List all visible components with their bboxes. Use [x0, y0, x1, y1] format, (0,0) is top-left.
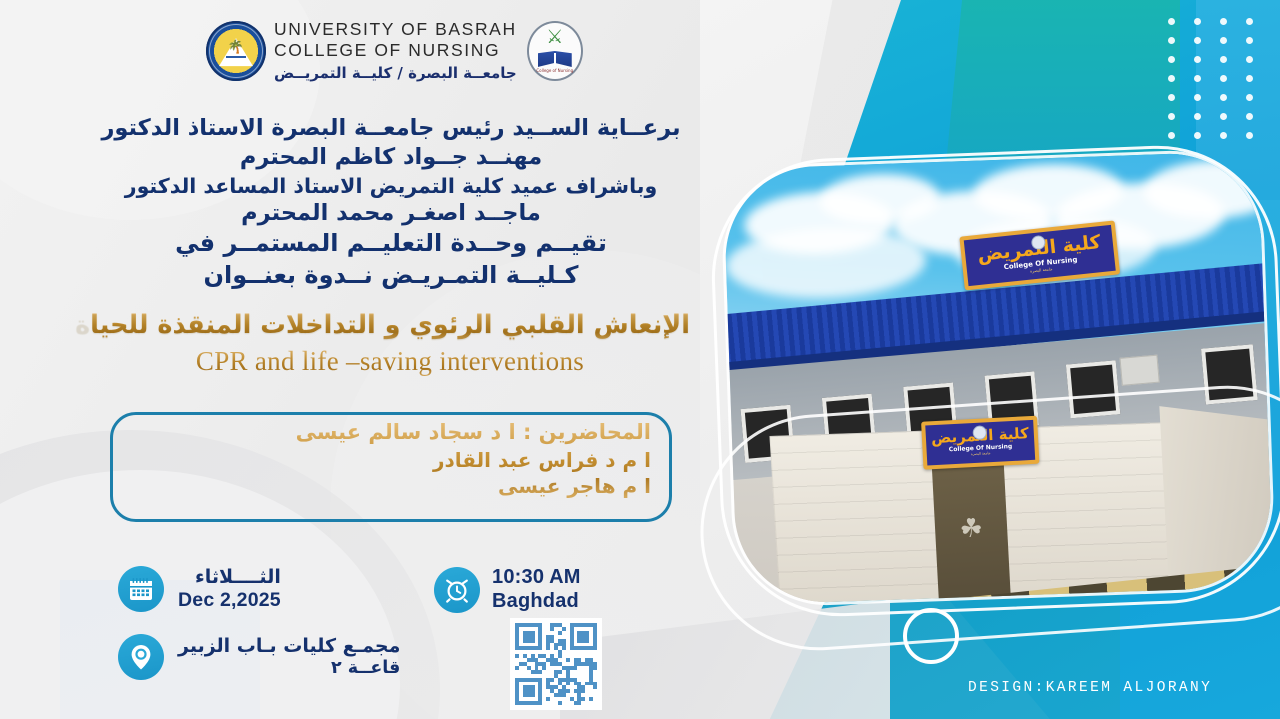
sign-lower-small: جامعة البصرة	[971, 452, 991, 457]
decor-white-ring	[903, 608, 959, 664]
info-time: 10:30 AM Baghdad	[434, 566, 581, 613]
info-location: مجمـع كليات بـاب الزبير قاعــة ٢	[118, 634, 400, 680]
decor-grey-wedge	[560, 600, 890, 719]
design-credit: DESIGN:KAREEM ALJORANY	[968, 680, 1212, 696]
seminar-title: الإنعاش القلبي الرئوي و التداخلات المنقذ…	[90, 310, 690, 377]
college-building-photo: ☘ كلية التمريض College Of Nursing جامعة …	[723, 151, 1274, 605]
location-line-1: مجمـع كليات بـاب الزبير	[178, 635, 400, 657]
qr-code[interactable]	[510, 618, 602, 710]
photo-door-emblem: ☘	[957, 513, 986, 546]
lecturers-box: المحاضرين : ا د سجاد سالم عيسى ا م د فرا…	[110, 412, 672, 522]
body-line-4: ماجــد اصغـر محمد المحترم	[100, 199, 682, 228]
decor-dot-grid	[1168, 18, 1272, 151]
body-line-5: تقيــم وحــدة التعليــم المستمــر في	[100, 228, 682, 259]
header-arabic-line: جامعــة البصرة / كليــة التمريــض	[274, 64, 517, 82]
header-text-block: UNIVERSITY OF BASRAH COLLEGE OF NURSING …	[274, 20, 517, 81]
qr-code-matrix	[515, 623, 597, 705]
sign-top-small: جامعة البصرة	[1030, 267, 1053, 273]
lecturer-line-3: ا م هاجر عيسى	[296, 473, 651, 499]
alarm-clock-icon	[434, 567, 480, 613]
time-clock: 10:30 AM	[492, 566, 581, 590]
seminar-title-arabic: الإنعاش القلبي الرئوي و التداخلات المنقذ…	[90, 310, 690, 342]
body-line-2: مهنــد جــواد كاظم المحترم	[100, 143, 682, 172]
map-pin-icon	[118, 634, 164, 680]
announcement-body: برعــاية الســيد رئيس جامعــة البصرة الا…	[100, 114, 682, 291]
lecturer-line-1: المحاضرين : ا د سجاد سالم عيسى	[296, 419, 651, 447]
lecturer-line-2: ا م د فراس عبد القادر	[296, 447, 651, 473]
date-english: Dec 2,2025	[178, 589, 281, 612]
date-text-block: الثــــلاثاء Dec 2,2025	[178, 566, 281, 611]
photo-sign-lower: كلية التمريض College Of Nursing جامعة ال…	[921, 416, 1039, 470]
header-english-line-1: UNIVERSITY OF BASRAH	[274, 20, 517, 40]
time-text-block: 10:30 AM Baghdad	[492, 566, 581, 613]
date-arabic-day: الثــــلاثاء	[178, 566, 281, 588]
college-of-nursing-seal-icon: ⚔ College of Nursing	[527, 21, 583, 81]
poster-header: 🌴 UNIVERSITY OF BASRAH COLLEGE OF NURSIN…	[206, 12, 586, 90]
university-of-basrah-seal-icon: 🌴	[206, 21, 266, 81]
location-text-block: مجمـع كليات بـاب الزبير قاعــة ٢	[178, 635, 400, 678]
lecturers-list: المحاضرين : ا د سجاد سالم عيسى ا م د فرا…	[296, 419, 651, 500]
location-line-2: قاعــة ٢	[178, 658, 400, 679]
body-line-1: برعــاية الســيد رئيس جامعــة البصرة الا…	[100, 114, 682, 143]
calendar-icon	[118, 566, 164, 612]
time-city: Baghdad	[492, 590, 581, 614]
info-date: الثــــلاثاء Dec 2,2025	[118, 566, 281, 612]
body-line-6: كـليــة التمـريـض نــدوة بعنــوان	[100, 260, 682, 291]
poster-canvas: ☘ كلية التمريض College Of Nursing جامعة …	[0, 0, 1280, 719]
body-line-3: وباشراف عميد كلية التمريض الاستاذ المساع…	[100, 173, 682, 200]
header-english-line-2: COLLEGE OF NURSING	[274, 41, 517, 61]
seminar-title-english: CPR and life –saving interventions	[90, 346, 690, 377]
